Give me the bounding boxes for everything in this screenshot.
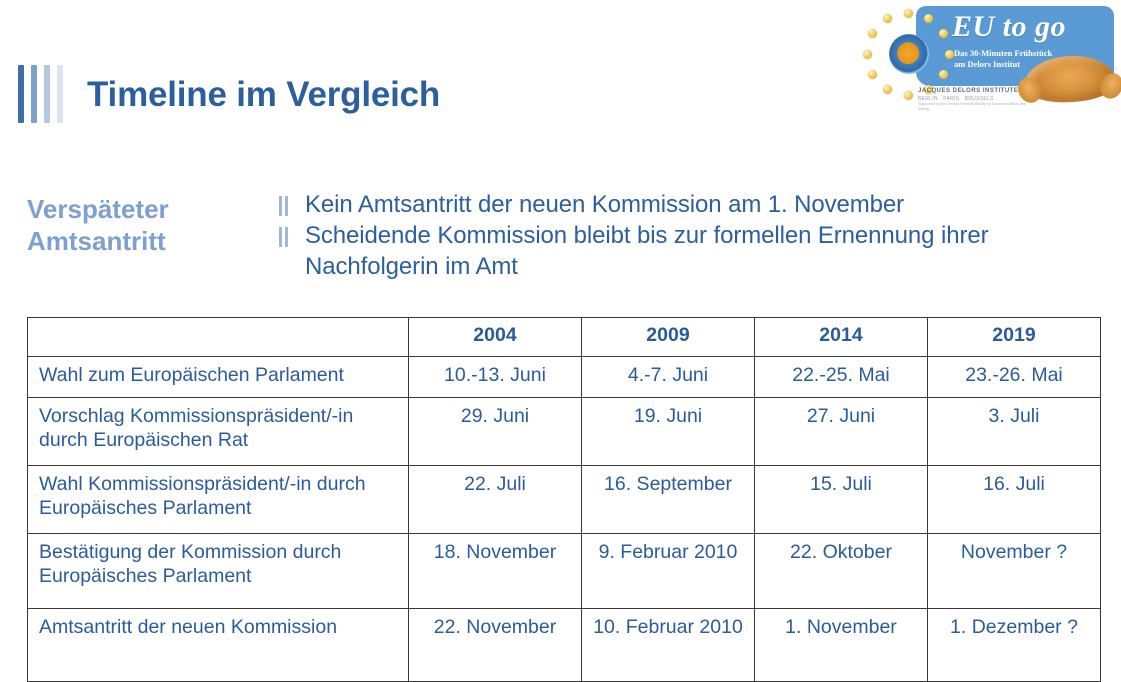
section-block: Verspäteter Amtsantritt Kein Amtsantritt…	[27, 190, 1097, 283]
bullet-text: Kein Amtsantritt der neuen Kommission am…	[305, 190, 904, 220]
row-label: Vorschlag Kommissionspräsident/-in durch…	[28, 398, 409, 466]
institute-support-note: Supported by the German Federal Ministry…	[918, 102, 1028, 112]
cell-2014: 22.-25. Mai	[755, 357, 928, 398]
table-body: Wahl zum Europäischen Parlament 10.-13. …	[28, 357, 1101, 682]
cell-2009: 19. Juni	[582, 398, 755, 466]
section-label: Verspäteter Amtsantritt	[27, 190, 275, 257]
timeline-comparison-table: 2004 2009 2014 2019 Wahl zum Europäische…	[27, 317, 1101, 682]
section-label-line2: Amtsantritt	[27, 225, 275, 257]
table-row: Vorschlag Kommissionspräsident/-in durch…	[28, 398, 1101, 466]
double-bar-bullet-icon	[279, 221, 305, 247]
table-row: Wahl Kommissionspräsident/-in durch Euro…	[28, 466, 1101, 534]
column-header-2004: 2004	[409, 318, 582, 357]
cell-2019: 1. Dezember ?	[928, 609, 1101, 682]
page-title: Timeline im Vergleich	[87, 77, 440, 112]
section-label-line1: Verspäteter	[27, 193, 275, 225]
decorative-bars-icon	[18, 65, 63, 123]
cell-2014: 15. Juli	[755, 466, 928, 534]
cell-2004: 18. November	[409, 534, 582, 609]
cell-2009: 10. Februar 2010	[582, 609, 755, 682]
column-header-blank	[28, 318, 409, 357]
cell-2019: 16. Juli	[928, 466, 1101, 534]
cell-2019: November ?	[928, 534, 1101, 609]
logo-brand-text: EU to go	[952, 10, 1066, 44]
list-item: Kein Amtsantritt der neuen Kommission am…	[279, 190, 1097, 220]
eu-to-go-logo: EU to go Das 30-Minuten Frühstück am Del…	[856, 4, 1121, 108]
row-label: Amtsantritt der neuen Kommission	[28, 609, 409, 682]
bullet-text: Scheidende Kommission bleibt bis zur for…	[305, 221, 1097, 282]
table-header-row: 2004 2009 2014 2019	[28, 318, 1101, 357]
cell-2019: 23.-26. Mai	[928, 357, 1101, 398]
cell-2009: 9. Februar 2010	[582, 534, 755, 609]
slide-header: Timeline im Vergleich	[18, 58, 440, 130]
coffee-cup-icon	[889, 34, 929, 74]
cell-2009: 4.-7. Juni	[582, 357, 755, 398]
institute-name: JACQUES DELORS INSTITUTE	[918, 88, 1028, 96]
cell-2019: 3. Juli	[928, 398, 1101, 466]
row-label: Wahl zum Europäischen Parlament	[28, 357, 409, 398]
cell-2004: 29. Juni	[409, 398, 582, 466]
bullet-list: Kein Amtsantritt der neuen Kommission am…	[275, 190, 1097, 283]
row-label: Wahl Kommissionspräsident/-in durch Euro…	[28, 466, 409, 534]
cell-2014: 27. Juni	[755, 398, 928, 466]
cell-2004: 22. November	[409, 609, 582, 682]
row-label: Bestätigung der Kommission durch Europäi…	[28, 534, 409, 609]
cell-2009: 16. September	[582, 466, 755, 534]
double-bar-bullet-icon	[279, 190, 305, 216]
column-header-2009: 2009	[582, 318, 755, 357]
column-header-2014: 2014	[755, 318, 928, 357]
table-header: 2004 2009 2014 2019	[28, 318, 1101, 357]
table-row: Amtsantritt der neuen Kommission 22. Nov…	[28, 609, 1101, 682]
column-header-2019: 2019	[928, 318, 1101, 357]
table-row: Bestätigung der Kommission durch Europäi…	[28, 534, 1101, 609]
list-item: Scheidende Kommission bleibt bis zur for…	[279, 221, 1097, 282]
cell-2014: 22. Oktober	[755, 534, 928, 609]
table-row: Wahl zum Europäischen Parlament 10.-13. …	[28, 357, 1101, 398]
eu-stars-circle-icon	[864, 10, 952, 98]
cell-2004: 10.-13. Juni	[409, 357, 582, 398]
cell-2004: 22. Juli	[409, 466, 582, 534]
institute-credit: JACQUES DELORS INSTITUTE BERLIN · PARIS …	[918, 88, 1028, 112]
logo-tagline-line1: Das 30-Minuten Frühstück	[954, 48, 1052, 59]
cell-2014: 1. November	[755, 609, 928, 682]
